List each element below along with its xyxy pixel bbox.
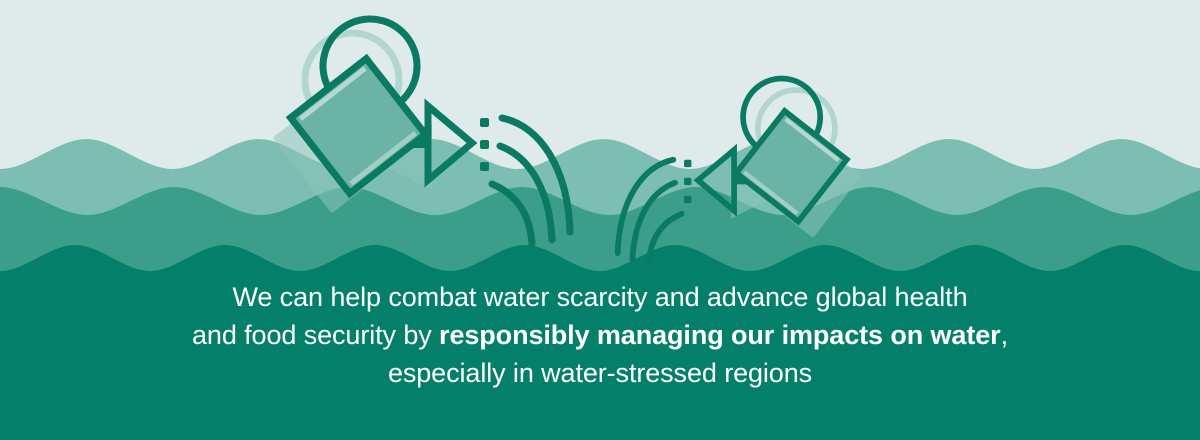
- caption-line-2-prefix: and food security by: [192, 320, 439, 350]
- caption-block: We can help combat water scarcity and ad…: [0, 278, 1200, 392]
- water-stewardship-banner: We can help combat water scarcity and ad…: [0, 0, 1200, 440]
- caption-line-1: We can help combat water scarcity and ad…: [0, 278, 1200, 316]
- caption-emphasis: responsibly managing our impacts on wate…: [439, 320, 1001, 350]
- caption-line-2: and food security by responsibly managin…: [0, 316, 1200, 354]
- caption-line-3: especially in water-stressed regions: [0, 354, 1200, 392]
- caption-line-2-suffix: ,: [1001, 320, 1008, 350]
